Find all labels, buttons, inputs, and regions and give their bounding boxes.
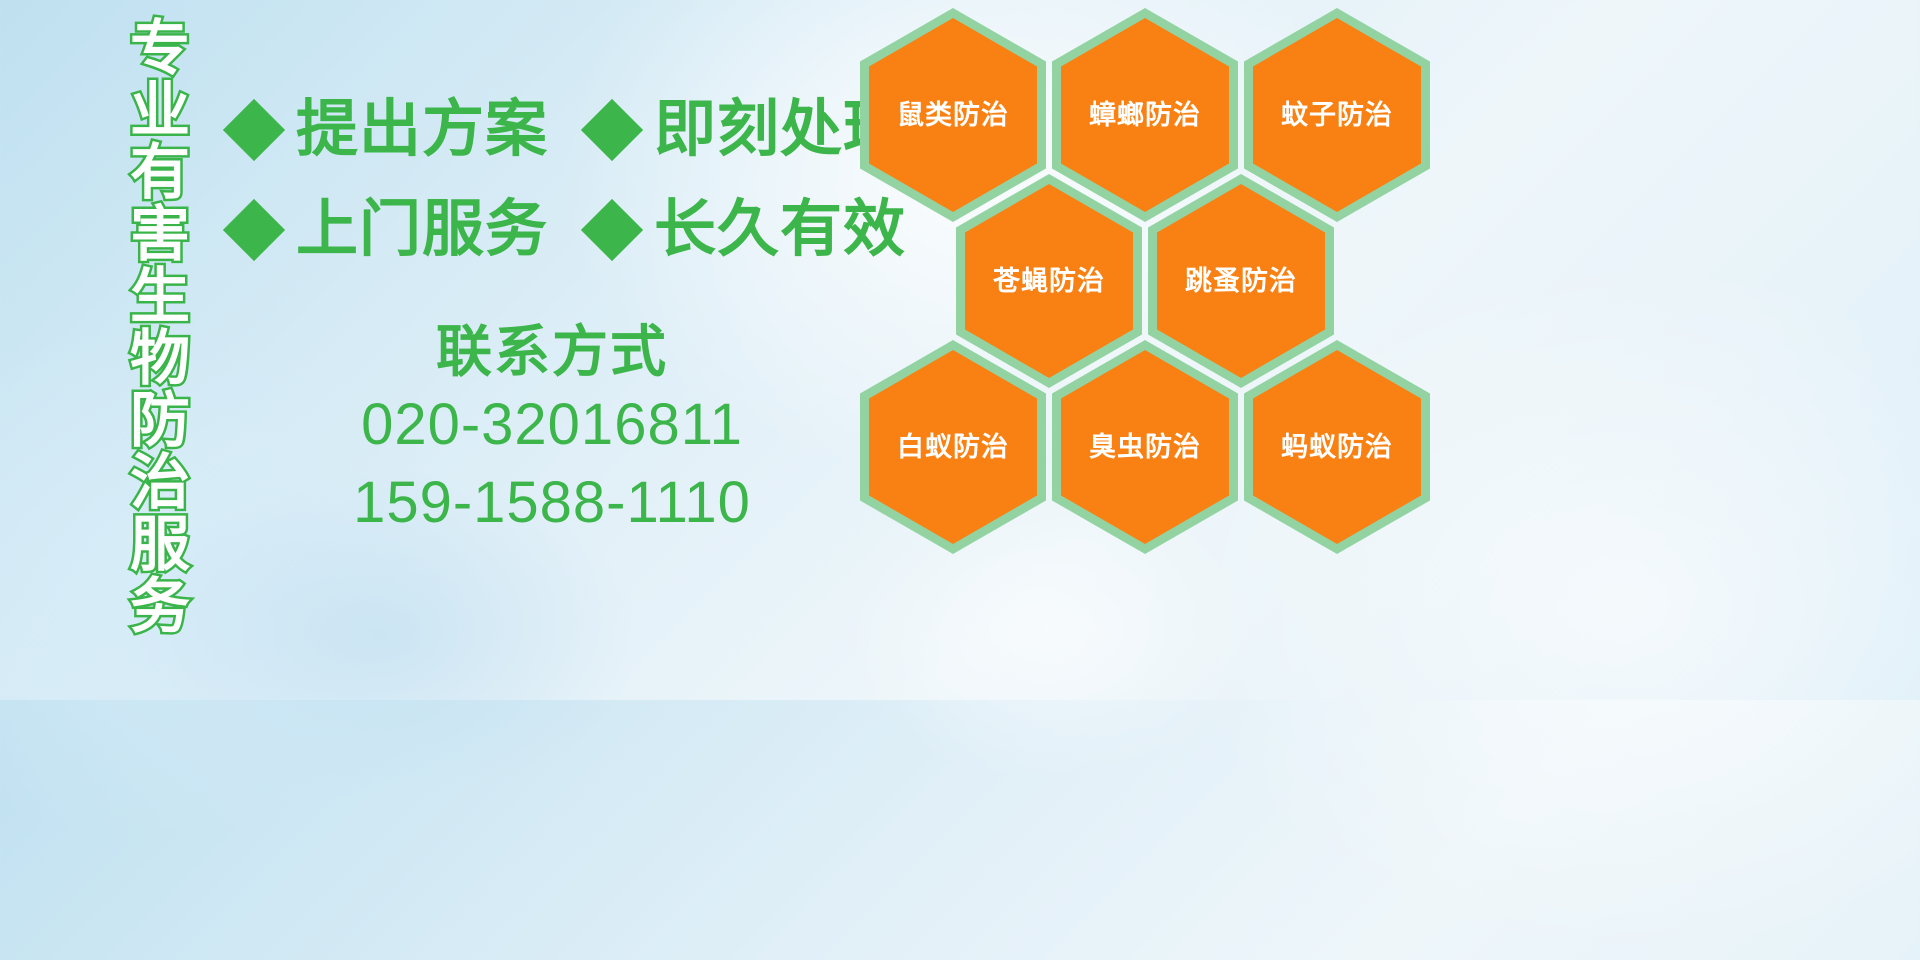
service-hex-flea[interactable]: 跳蚤防治 [1148, 174, 1334, 388]
hex-inner-fill: 蟑螂防治 [1061, 18, 1229, 212]
diamond-bullet-icon [223, 99, 285, 161]
vertical-headline-char: 生 [130, 266, 190, 328]
feature-label: 上门服务 [296, 199, 548, 261]
promo-banner: 专 业 有 害 生 物 防 治 服 务 提出方案 即刻处理 上门服务 [0, 0, 1920, 700]
vertical-headline-char: 防 [130, 390, 190, 452]
vertical-headline-char: 害 [130, 204, 190, 266]
hex-inner-fill: 蚂蚁防治 [1253, 350, 1421, 544]
diamond-bullet-icon [581, 199, 643, 261]
service-label: 跳蚤防治 [1185, 268, 1297, 295]
contact-block: 联系方式 020-32016811 159-1588-1110 [232, 318, 872, 542]
service-label: 白蚁防治 [897, 434, 1009, 461]
service-label: 鼠类防治 [897, 102, 1009, 129]
service-honeycomb: 鼠类防治 蟑螂防治 蚊子防治 苍蝇防治 跳蚤防治 白蚁防治 [858, 0, 1458, 558]
service-hex-fly[interactable]: 苍蝇防治 [956, 174, 1142, 388]
vertical-headline-char: 业 [130, 80, 190, 142]
service-hex-termite[interactable]: 白蚁防治 [860, 340, 1046, 554]
diamond-bullet-icon [581, 99, 643, 161]
hex-inner-fill: 鼠类防治 [869, 18, 1037, 212]
hex-inner-fill: 蚊子防治 [1253, 18, 1421, 212]
contact-phone-landline[interactable]: 020-32016811 [232, 386, 872, 464]
vertical-headline: 专 业 有 害 生 物 防 治 服 务 [108, 18, 212, 638]
feature-item-proposal: 提出方案 [232, 99, 548, 161]
feature-item-onsite: 上门服务 [232, 199, 548, 261]
service-label: 苍蝇防治 [993, 268, 1105, 295]
service-label: 蟑螂防治 [1089, 102, 1201, 129]
service-hex-bedbug[interactable]: 臭虫防治 [1052, 340, 1238, 554]
vertical-headline-char: 有 [130, 142, 190, 204]
service-label: 臭虫防治 [1089, 434, 1201, 461]
hex-inner-fill: 臭虫防治 [1061, 350, 1229, 544]
contact-phone-mobile[interactable]: 159-1588-1110 [232, 464, 872, 542]
vertical-headline-char: 治 [130, 452, 190, 514]
contact-title: 联系方式 [232, 318, 872, 386]
hex-inner-fill: 跳蚤防治 [1157, 184, 1325, 378]
service-hex-ant[interactable]: 蚂蚁防治 [1244, 340, 1430, 554]
vertical-headline-char: 专 [130, 18, 190, 80]
vertical-headline-char: 物 [130, 328, 190, 390]
hex-inner-fill: 白蚁防治 [869, 350, 1037, 544]
service-label: 蚂蚁防治 [1281, 434, 1393, 461]
vertical-headline-char: 务 [130, 576, 190, 638]
diamond-bullet-icon [223, 199, 285, 261]
service-hex-rodent[interactable]: 鼠类防治 [860, 8, 1046, 222]
feature-list: 提出方案 即刻处理 上门服务 长久有效 [232, 80, 872, 280]
feature-row: 上门服务 长久有效 [232, 180, 872, 280]
service-label: 蚊子防治 [1281, 102, 1393, 129]
feature-row: 提出方案 即刻处理 [232, 80, 872, 180]
feature-label: 提出方案 [296, 99, 548, 161]
hex-inner-fill: 苍蝇防治 [965, 184, 1133, 378]
service-hex-cockroach[interactable]: 蟑螂防治 [1052, 8, 1238, 222]
vertical-headline-char: 服 [130, 514, 190, 576]
service-hex-mosquito[interactable]: 蚊子防治 [1244, 8, 1430, 222]
